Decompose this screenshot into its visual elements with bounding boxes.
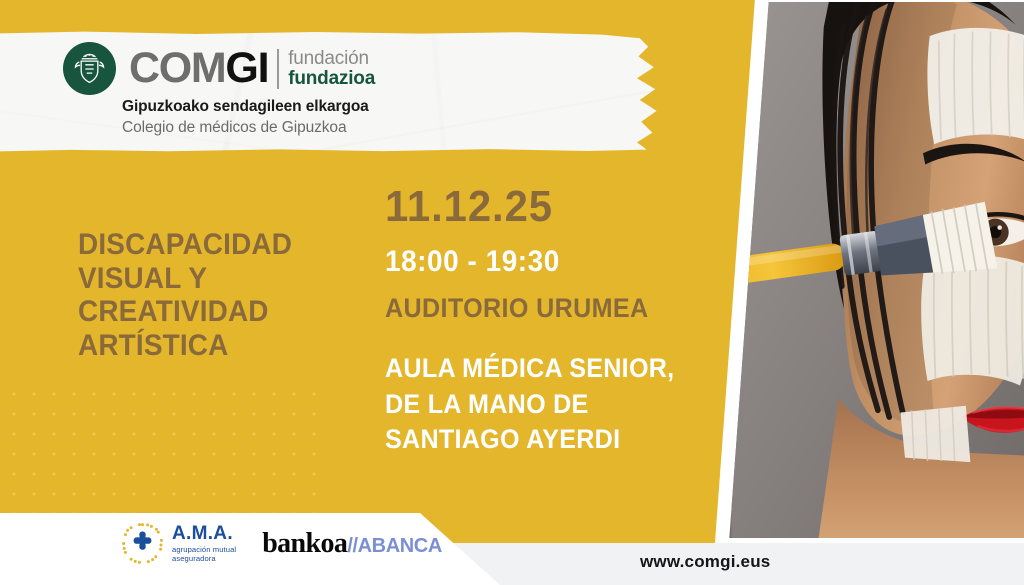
fundacion-block: fundación fundazioa [288,49,375,88]
heraldic-shield-crest-icon [63,42,116,95]
photo-frame [715,0,1024,548]
wordmark-divider [277,49,279,89]
title-line-1: DISCAPACIDAD [78,228,357,262]
title-line-4: ARTÍSTICA [78,329,357,363]
bankoa-abanca-logo: bankoa //ABANCA [262,528,442,560]
ama-tagline-2: aseguradora [172,555,236,563]
ama-cross-stars-icon [120,521,165,566]
comgi-wordmark: COMGI fundación fundazioa [129,47,375,90]
event-time: 18:00 - 19:30 [385,247,692,277]
dot-pattern-decoration [0,380,330,515]
comgi-logo: COMGI fundación fundazioa [63,42,375,95]
subtitle-basque: Gipuzkoako sendagileen elkargoa [122,98,369,116]
program-line-2: DE LA MANO DE [385,387,692,423]
fundacion-eu: fundazioa [288,69,375,88]
event-venue: AUDITORIO URUMEA [385,295,692,322]
fundacion-es: fundación [288,49,375,68]
header-banner: COMGI fundación fundazioa Gipuzkoako sen… [0,31,700,152]
event-program: AULA MÉDICA SENIOR, DE LA MANO DE SANTIA… [385,351,692,458]
ama-name: A.M.A. [172,524,236,543]
event-title: DISCAPACIDAD VISUAL Y CREATIVIDAD ARTÍST… [78,228,357,362]
sponsor-logos: A.M.A. agrupación mutual aseguradora ban… [120,521,442,566]
ama-tagline-1: agrupación mutual [172,546,236,554]
website-url[interactable]: www.comgi.eus [640,552,770,572]
brand-gi: GI [225,44,268,92]
bankoa-name: bankoa [262,528,347,560]
portrait-photo [729,2,1024,538]
program-line-1: AULA MÉDICA SENIOR, [385,351,692,387]
event-details: 11.12.25 18:00 - 19:30 AUDITORIO URUMEA … [385,185,715,458]
comgi-text: COMGI [129,47,268,90]
brand-com: COM [129,44,225,92]
program-line-3: SANTIAGO AYERDI [385,422,692,458]
abanca-suffix: //ABANCA [347,535,442,558]
title-line-2: VISUAL Y [78,262,357,296]
ama-logo: A.M.A. agrupación mutual aseguradora [120,521,236,566]
title-line-3: CREATIVIDAD [78,295,357,329]
subtitle-spanish: Colegio de médicos de Gipuzkoa [122,119,346,137]
ama-wordmark: A.M.A. agrupación mutual aseguradora [172,524,236,562]
event-date: 11.12.25 [385,185,699,229]
